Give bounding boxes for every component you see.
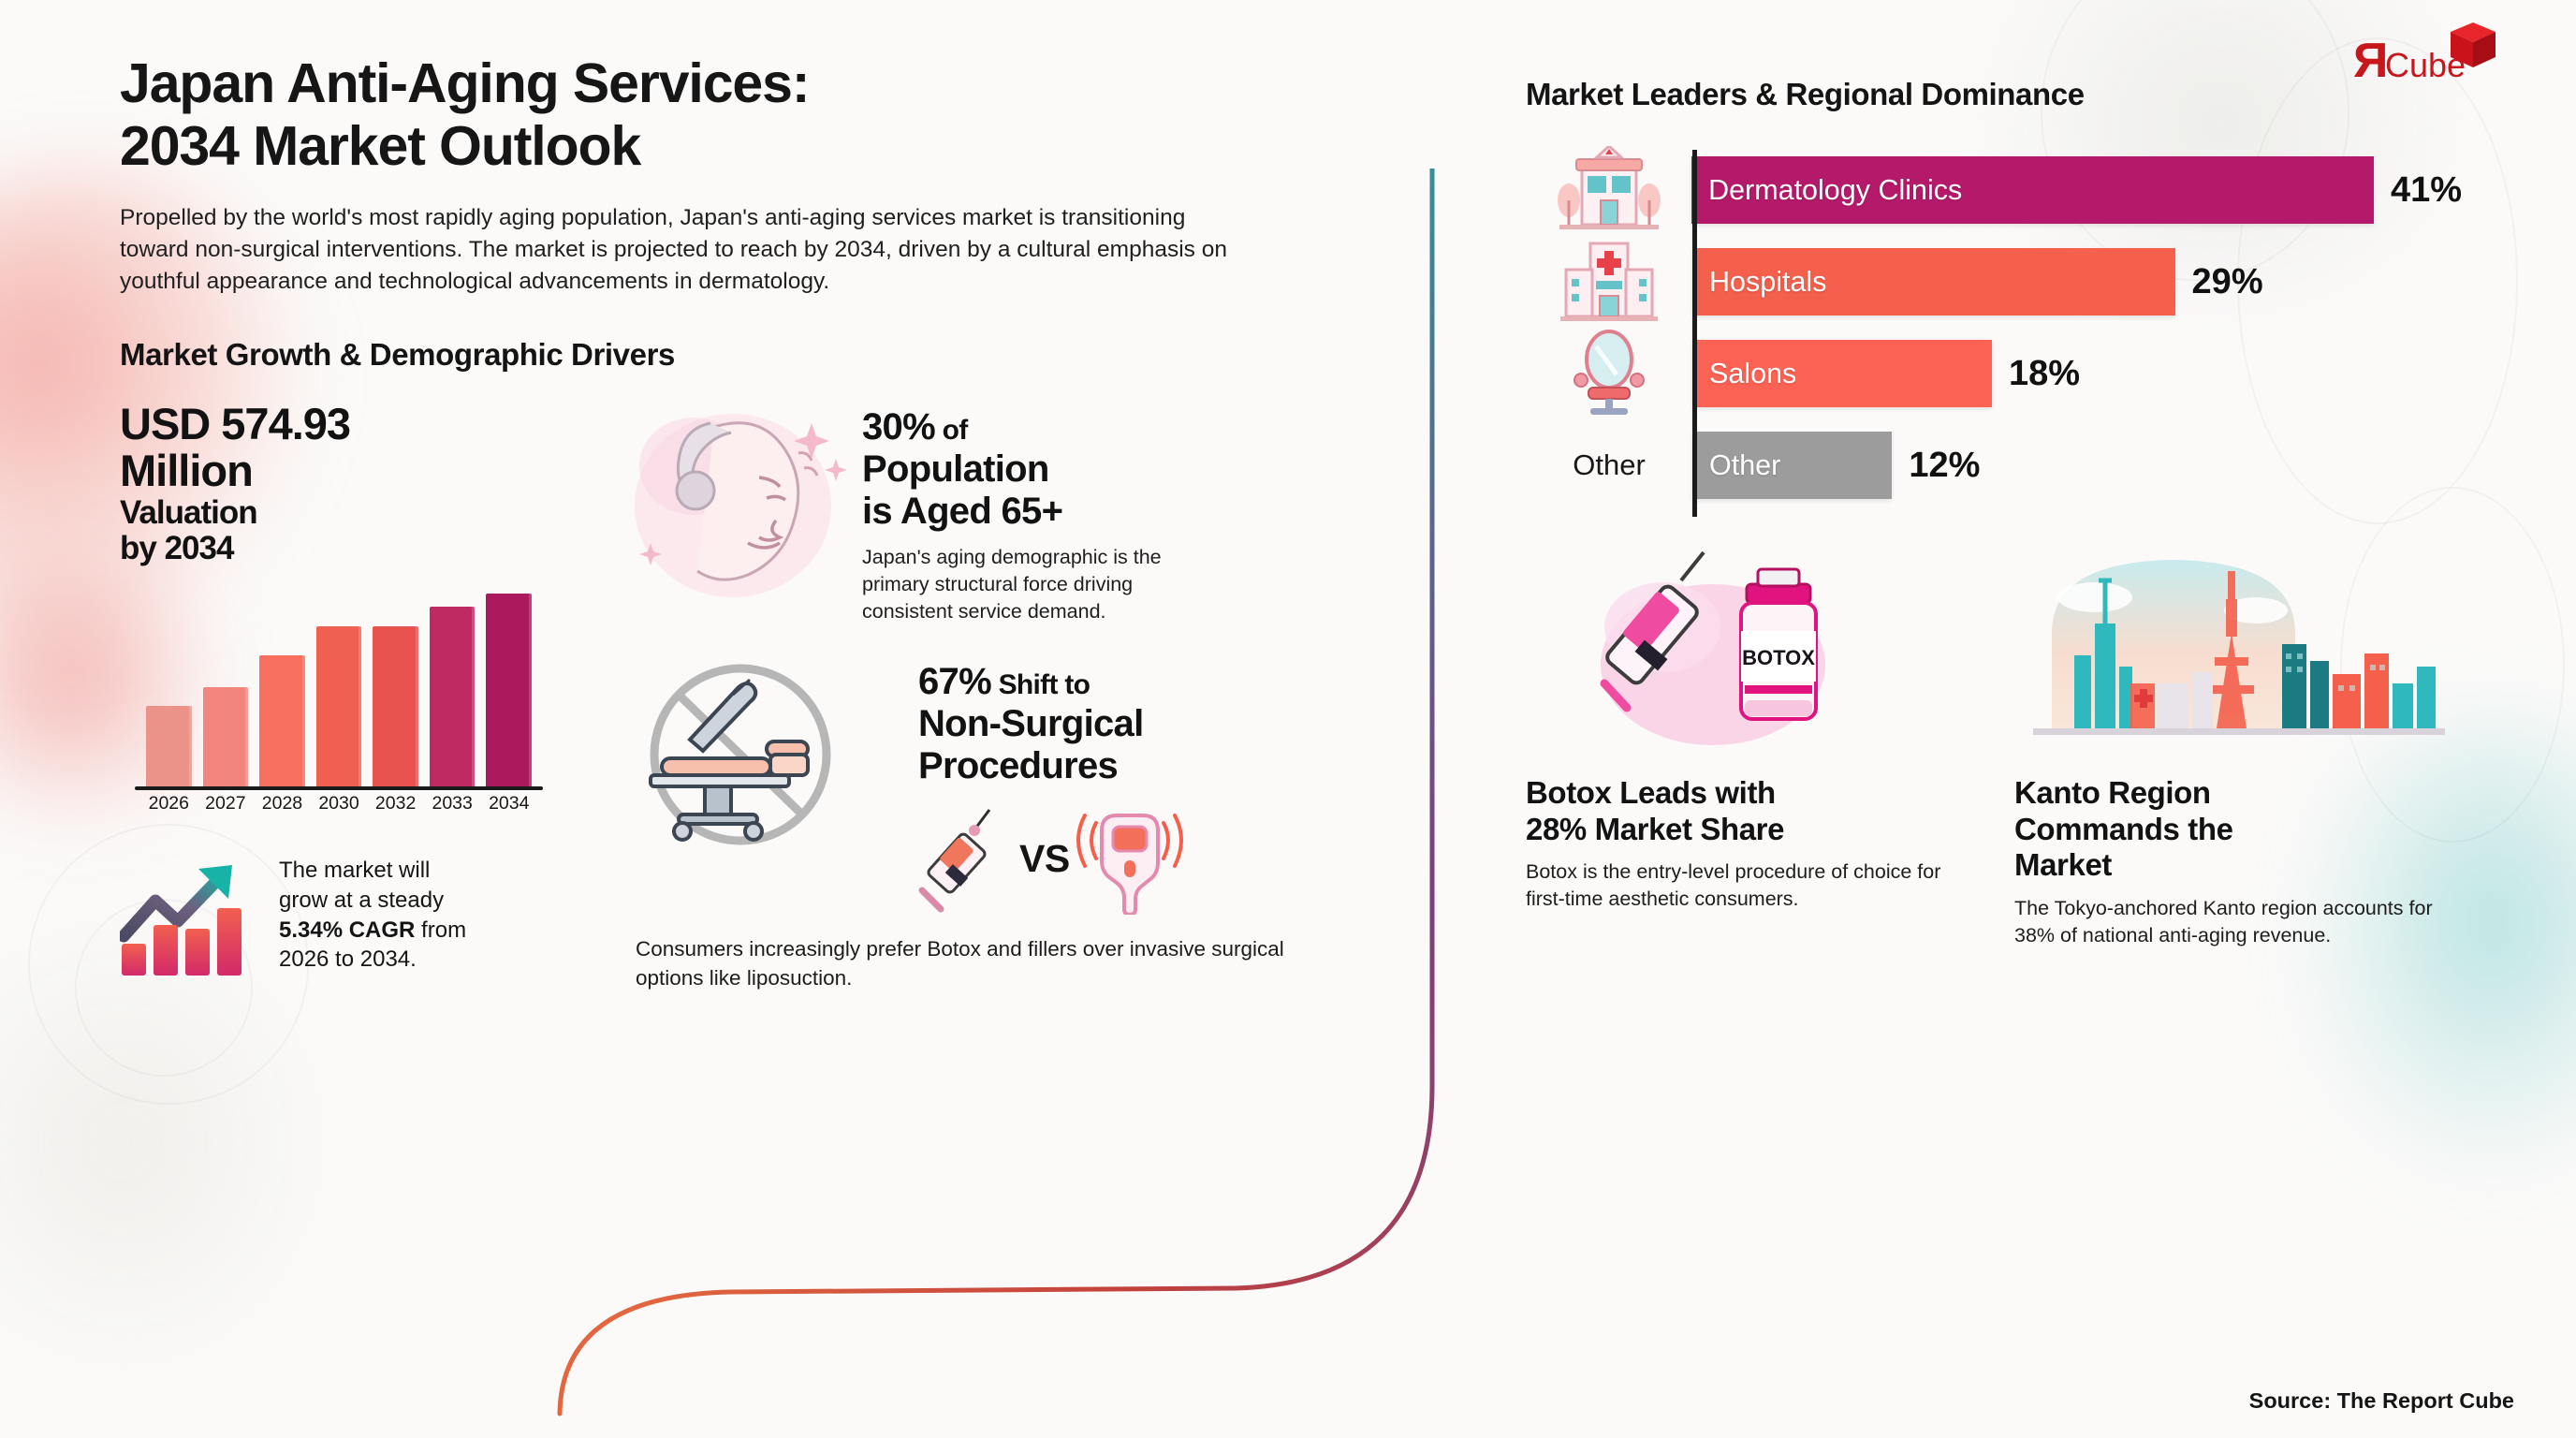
- growth-bar-chart-plot: [146, 594, 532, 788]
- botox-vial-icon: BOTOX: [1741, 569, 1816, 719]
- growth-tick-2033: 2033: [430, 793, 476, 814]
- section-heading-market-growth: Market Growth & Demographic Drivers: [120, 337, 1337, 373]
- bar-fill-salons: Salons: [1692, 340, 1992, 407]
- aging-population-copy: 30% of Population is Aged 65+ Japan's ag…: [862, 401, 1194, 625]
- table-row: Salons 18%: [1526, 328, 2462, 419]
- rf-beauty-device-icon: [1076, 802, 1184, 915]
- axis-label-other: Other: [1526, 448, 1692, 482]
- two-column-body: USD 574.93 Million Valuation by 2034 202…: [120, 401, 1337, 993]
- bar-fill-hospitals: Hospitals: [1692, 248, 2175, 315]
- bar-label-other: Other: [1709, 449, 1780, 482]
- growth-tick-2028: 2028: [259, 793, 305, 814]
- growth-tick-2027: 2027: [203, 793, 249, 814]
- vial-label-text: BOTOX: [1742, 646, 1815, 669]
- cagr-line-2: grow at a steady: [279, 888, 444, 913]
- table-row: Other Other 12%: [1526, 419, 2462, 511]
- growth-tick-2030: 2030: [316, 793, 362, 814]
- cagr-line-3: from: [415, 917, 466, 943]
- valuation-caption-2: by 2034: [120, 531, 611, 566]
- no-surgery-art: [628, 661, 909, 867]
- card-botox-title: Botox Leads with 28% Market Share: [1526, 775, 1966, 847]
- salon-mirror-icon: [1526, 330, 1692, 418]
- growth-bar-2027: [203, 687, 249, 788]
- aging-stat-headline: 30% of Population is Aged 65+: [862, 406, 1194, 534]
- infographic-page: Я Cube Japan Anti-Aging Services: 2034 M…: [0, 0, 2576, 1438]
- section-heading-market-leaders: Market Leaders & Regional Dominance: [1526, 77, 2509, 112]
- card-botox-note: Botox is the entry-level procedure of ch…: [1526, 858, 1966, 913]
- growth-bar-2026: [146, 706, 192, 787]
- non-surgical-note: Consumers increasingly prefer Botox and …: [636, 935, 1291, 992]
- card-kanto-title: Kanto Region Commands the Market: [2014, 775, 2454, 884]
- aging-stat-line3: is Aged 65+: [862, 491, 1062, 532]
- bar-label-dermatology-clinics: Dermatology Clinics: [1708, 174, 1962, 207]
- non-surgical-shift-block: 67% Shift to Non-Surgical Procedures: [628, 661, 1337, 916]
- cagr-line-4: 2026 to 2034.: [279, 946, 417, 972]
- right-panel: Market Leaders & Regional Dominance: [1526, 77, 2509, 948]
- growth-chart-x-tick-labels: 2026202720282030203220332034: [146, 793, 532, 814]
- growth-bar-2034: [486, 594, 532, 788]
- elderly-woman-face-icon: [628, 401, 853, 602]
- aging-stat-of: of: [935, 415, 968, 446]
- growth-bar-2030: [316, 626, 362, 788]
- growth-tick-2026: 2026: [146, 793, 192, 814]
- bar-value-hospitals: 29%: [2192, 262, 2263, 302]
- valuation-stat: USD 574.93 Million Valuation by 2034: [120, 401, 611, 566]
- valuation-unit: Million: [120, 446, 253, 495]
- bar-label-hospitals: Hospitals: [1709, 266, 1826, 299]
- aging-population-block: 30% of Population is Aged 65+ Japan's ag…: [628, 401, 1337, 625]
- shift-stat-line2: Non-Surgical: [918, 703, 1144, 744]
- bar-value-dermatology-clinics: 41%: [2391, 170, 2462, 211]
- page-title: Japan Anti-Aging Services: 2034 Market O…: [120, 52, 1337, 179]
- card-kanto-note: The Tokyo-anchored Kanto region accounts…: [2014, 895, 2454, 949]
- bar-value-salons: 18%: [2009, 354, 2080, 394]
- shift-stat-line3: Procedures: [918, 745, 1118, 786]
- bar-label-salons: Salons: [1709, 358, 1796, 390]
- left-panel: Japan Anti-Aging Services: 2034 Market O…: [120, 52, 1337, 992]
- valuation-value: USD 574.93: [120, 399, 350, 448]
- botox-vial-syringe-art: BOTOX: [1526, 543, 1966, 756]
- no-surgery-icon: [628, 661, 909, 862]
- bar-fill-other: Other: [1692, 432, 1892, 499]
- growth-bar-chart: 2026202720282030203220332034: [120, 593, 541, 813]
- non-surgical-copy: 67% Shift to Non-Surgical Procedures: [918, 661, 1184, 916]
- table-row: Hospitals 29%: [1526, 236, 2462, 328]
- growth-tick-2032: 2032: [373, 793, 418, 814]
- valuation-column: USD 574.93 Million Valuation by 2034 202…: [120, 401, 611, 993]
- valuation-caption-1: Valuation: [120, 495, 611, 531]
- cagr-value: 5.34% CAGR: [279, 917, 415, 943]
- demographics-column: 30% of Population is Aged 65+ Japan's ag…: [611, 401, 1337, 993]
- botox-vial-syringe-icon: BOTOX: [1582, 543, 1910, 756]
- tokyo-skyline-icon: [2014, 543, 2454, 756]
- aging-stat-line2: Population: [862, 448, 1049, 490]
- tokyo-skyline-art: [2014, 543, 2454, 756]
- vs-label: VS: [1019, 837, 1070, 881]
- cagr-callout: The market will grow at a steady 5.34% C…: [120, 856, 611, 977]
- growth-tick-2034: 2034: [486, 793, 532, 814]
- cagr-text: The market will grow at a steady 5.34% C…: [279, 856, 527, 976]
- dermatology-clinic-icon: [1526, 146, 1691, 234]
- shift-stat-value: 67%: [918, 661, 991, 702]
- growth-bar-2033: [430, 607, 476, 787]
- market-share-bar-chart: Dermatology Clinics 41%: [1526, 144, 2462, 511]
- elderly-face-art: [628, 401, 853, 607]
- growth-bar-2032: [373, 626, 418, 788]
- source-attribution: Source: The Report Cube: [2249, 1388, 2514, 1414]
- insight-cards: BOTOX Botox Leads with 28% Market Share …: [1526, 543, 2509, 948]
- procedure-comparison: VS: [909, 802, 1184, 915]
- bar-value-other: 12%: [1909, 446, 1980, 486]
- intro-paragraph: Propelled by the world's most rapidly ag…: [120, 202, 1238, 298]
- cagr-line-1: The market will: [279, 858, 430, 883]
- growth-chart-axis: [135, 786, 543, 790]
- market-share-chart-axis: [1692, 150, 1697, 517]
- shift-stat-headline: 67% Shift to Non-Surgical Procedures: [918, 661, 1184, 788]
- card-botox: BOTOX Botox Leads with 28% Market Share …: [1526, 543, 1966, 948]
- hospital-icon: [1526, 238, 1692, 326]
- card-kanto: Kanto Region Commands the Market The Tok…: [2014, 543, 2454, 948]
- growth-bar-2028: [259, 655, 305, 787]
- growth-arrow-icon: [120, 856, 260, 977]
- table-row: Dermatology Clinics 41%: [1526, 144, 2462, 236]
- bar-fill-dermatology-clinics: Dermatology Clinics: [1691, 156, 2374, 224]
- syringe-icon: [909, 802, 1014, 915]
- shift-stat-rest: Shift to: [991, 669, 1090, 700]
- aging-stat-note: Japan's aging demographic is the primary…: [862, 544, 1194, 624]
- aging-stat-value: 30%: [862, 406, 935, 448]
